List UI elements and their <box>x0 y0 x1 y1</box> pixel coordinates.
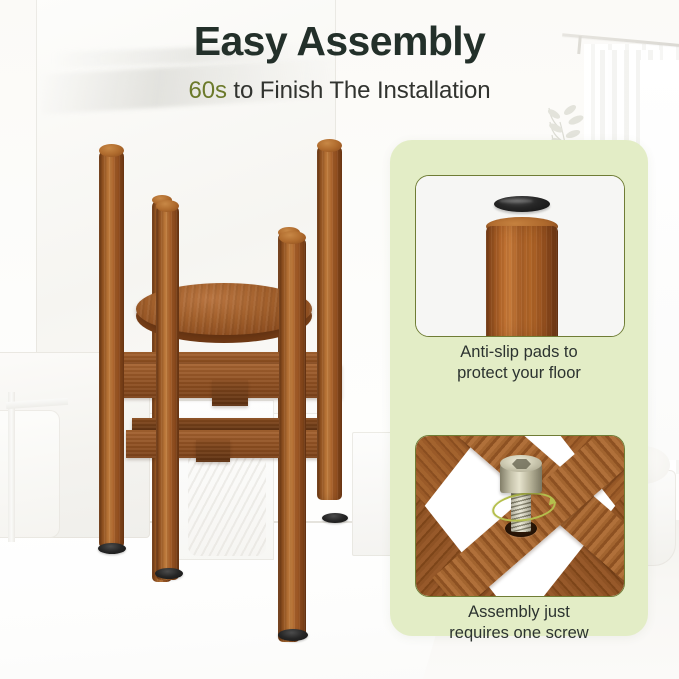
page-title: Easy Assembly <box>0 18 679 65</box>
anti-slip-foot-4 <box>278 629 308 641</box>
leg-front-center-cap <box>156 200 179 212</box>
anti-slip-pad-icon <box>494 196 550 212</box>
caption-one-screw-line1: Assembly just <box>400 602 638 623</box>
caption-one-screw: Assembly just requires one screw <box>400 602 638 644</box>
leg-rear-far-right-cap <box>317 139 342 152</box>
leg-cylinder <box>486 226 558 337</box>
infographic-canvas: Easy Assembly 60s to Finish The Installa… <box>0 0 679 679</box>
caption-one-screw-line2: requires one screw <box>400 623 638 644</box>
page-subtitle: 60s to Finish The Installation <box>0 77 679 105</box>
rail-lower-notch <box>196 440 230 462</box>
leg-front-left <box>99 150 124 548</box>
feature-panel: Anti-slip pads to protect your floor <box>390 140 648 636</box>
anti-slip-foot-1 <box>98 543 126 554</box>
leg-rear-far-right <box>317 145 342 500</box>
leg-front-right-cap <box>279 231 306 244</box>
leg-front-left-cap <box>99 144 124 157</box>
caption-anti-slip: Anti-slip pads to protect your floor <box>400 342 638 384</box>
anti-slip-illustration <box>416 176 624 336</box>
anti-slip-foot-3 <box>322 513 348 523</box>
rail-upper-notch <box>212 380 248 406</box>
leg-front-right <box>279 237 306 637</box>
feature-card-anti-slip <box>415 175 625 337</box>
screw-illustration <box>416 436 624 596</box>
feature-card-one-screw <box>415 435 625 597</box>
caption-anti-slip-line2: protect your floor <box>400 363 638 384</box>
caption-anti-slip-line1: Anti-slip pads to <box>400 342 638 363</box>
subtitle-rest: to Finish The Installation <box>227 77 491 104</box>
anti-slip-foot-2 <box>155 568 183 579</box>
subtitle-accent: 60s <box>188 77 226 104</box>
leg-front-center <box>156 205 179 580</box>
